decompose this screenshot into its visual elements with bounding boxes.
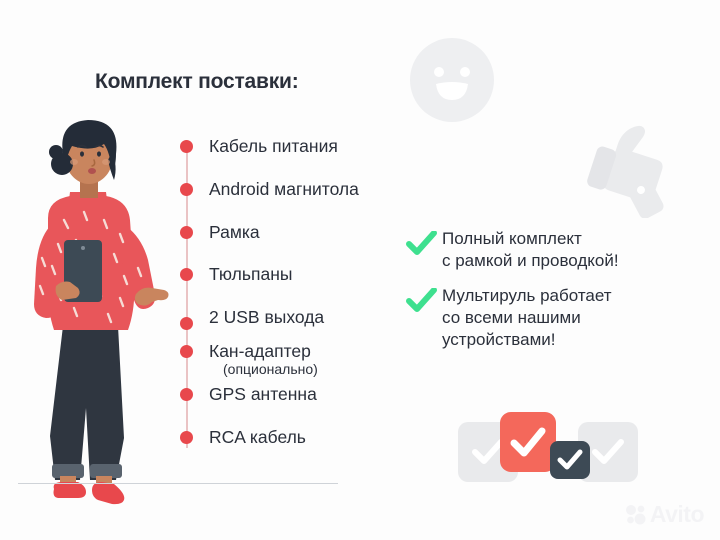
bullet-dot-icon — [180, 388, 193, 401]
checkbox-card-dark — [550, 441, 590, 479]
woman-pointing-with-tablet-illustration — [8, 108, 173, 508]
bullet-dot-icon — [180, 317, 193, 330]
check-icon — [557, 449, 583, 471]
highlight-text: Полный комплект с рамкой и проводкой! — [442, 228, 619, 272]
bullet-dot-icon — [180, 345, 193, 358]
list-item: GPS антенна — [178, 380, 438, 423]
list-item-label: Рамка — [209, 218, 438, 247]
check-icon — [509, 427, 547, 457]
thumbs-up-icon — [578, 112, 684, 218]
list-item: Тюльпаны — [178, 260, 438, 303]
list-item-label: Кабель питания — [209, 132, 438, 161]
list-item: RCA кабель — [178, 423, 438, 466]
list-item-label: RCA кабель — [209, 423, 438, 452]
highlight-item: Мультируль работает со всеми нашими устр… — [406, 285, 706, 351]
ground-line — [18, 483, 338, 484]
list-item: Рамка — [178, 218, 438, 261]
kit-contents-list: Кабель питания Android магнитола Рамка Т… — [178, 132, 438, 466]
highlight-list: Полный комплект с рамкой и проводкой! Му… — [406, 228, 706, 364]
list-item-sublabel: (опционально) — [209, 361, 438, 377]
bullet-dot-icon — [180, 226, 193, 239]
highlight-text: Мультируль работает со всеми нашими устр… — [442, 285, 612, 351]
checkbox-card-red — [500, 412, 556, 472]
bullet-dot-icon — [180, 268, 193, 281]
list-item-label: GPS антенна — [209, 380, 438, 409]
bullet-dot-icon — [180, 431, 193, 444]
avito-logo-icon — [625, 504, 647, 526]
bullet-dot-icon — [180, 140, 193, 153]
list-item: Кан-адаптер (опционально) — [178, 337, 438, 380]
green-check-icon — [406, 231, 437, 257]
smiley-face-icon — [408, 36, 496, 124]
list-item: Кабель питания — [178, 132, 438, 175]
avito-watermark-text: Avito — [650, 501, 704, 528]
green-check-icon — [406, 288, 437, 314]
list-item: 2 USB выхода — [178, 303, 438, 337]
avito-watermark: Avito — [625, 501, 704, 528]
highlight-item: Полный комплект с рамкой и проводкой! — [406, 228, 706, 272]
list-item-label: Тюльпаны — [209, 260, 438, 289]
list-item-label: 2 USB выхода — [209, 303, 438, 332]
bullet-dot-icon — [180, 183, 193, 196]
checkbox-cards-decoration — [458, 408, 638, 494]
poster-canvas: Комплект поставки: Кабель питания Androi… — [0, 0, 720, 540]
page-title: Комплект поставки: — [95, 70, 299, 94]
check-icon — [591, 438, 625, 466]
list-item: Android магнитола — [178, 175, 438, 218]
list-item-label: Android магнитола — [209, 175, 438, 204]
